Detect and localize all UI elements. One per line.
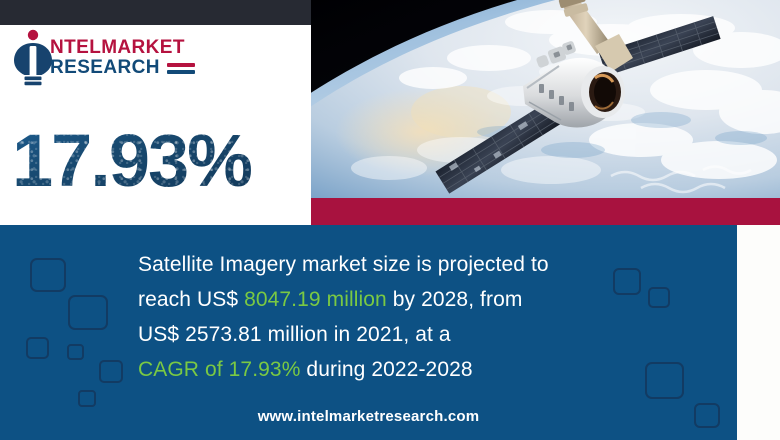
- brand-logo[interactable]: NTELMARKET RESEARCH: [8, 25, 198, 87]
- summary-line-1-text: Satellite Imagery market size is project…: [138, 253, 549, 276]
- logo-line-2: RESEARCH: [50, 57, 160, 78]
- logo-bar-red: [167, 63, 195, 67]
- decorative-square: [68, 295, 108, 330]
- forecast-value-highlight: 8047.19 million: [244, 288, 387, 311]
- summary-line-4-suffix: during 2022-2028: [300, 358, 472, 381]
- summary-line-3-text: US$ 2573.81 million in 2021, at a: [138, 323, 451, 346]
- summary-line-2-prefix: reach US$: [138, 288, 244, 311]
- right-white-strip: [737, 225, 780, 440]
- infographic-root: NTELMARKET RESEARCH CAGR 17.93% (2022-20…: [0, 0, 780, 440]
- summary-line-2: reach US$ 8047.19 million by 2028, from: [138, 282, 678, 317]
- logo-accent-bars-icon: [167, 61, 195, 74]
- decorative-square: [26, 337, 49, 359]
- satellite-photo: [311, 0, 780, 198]
- summary-line-2-suffix: by 2028, from: [387, 288, 523, 311]
- lightbulb-icon: [12, 29, 54, 87]
- website-url[interactable]: www.intelmarketresearch.com: [0, 408, 737, 425]
- cagr-value: 17.93%: [12, 122, 251, 200]
- decorative-square: [78, 390, 96, 407]
- logo-line-2-row: RESEARCH: [50, 57, 195, 78]
- summary-line-1: Satellite Imagery market size is project…: [138, 247, 678, 282]
- decorative-square: [30, 258, 66, 292]
- decorative-square: [67, 344, 84, 360]
- summary-line-4: CAGR of 17.93% during 2022-2028: [138, 352, 678, 387]
- decorative-square: [99, 360, 123, 383]
- market-summary-text: Satellite Imagery market size is project…: [138, 247, 678, 387]
- logo-bar-blue: [167, 70, 195, 74]
- summary-line-3: US$ 2573.81 million in 2021, at a: [138, 317, 678, 352]
- logo-line-1: NTELMARKET: [50, 37, 195, 58]
- top-dark-bar: [0, 0, 311, 25]
- crimson-divider-band: [311, 198, 780, 225]
- logo-wordmark: NTELMARKET RESEARCH: [50, 37, 195, 78]
- cagr-highlight: CAGR of 17.93%: [138, 358, 300, 381]
